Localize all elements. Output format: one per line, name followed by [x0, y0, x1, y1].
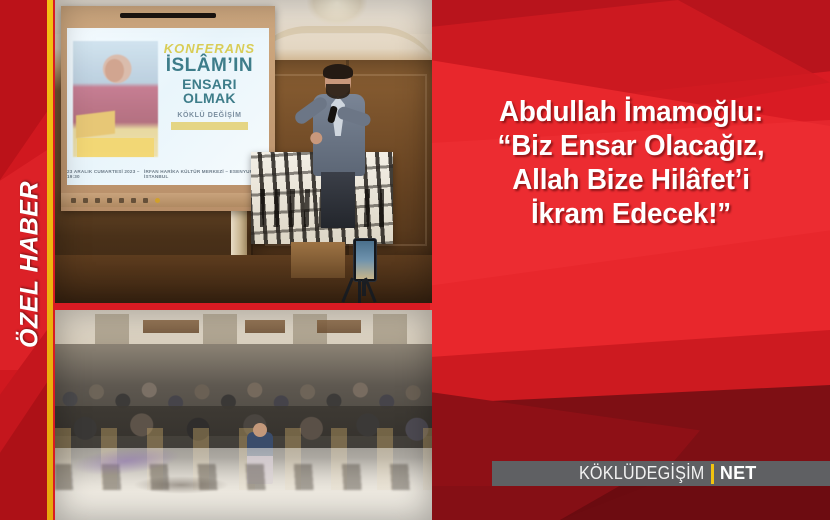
grid-icon [95, 198, 100, 203]
list-icon [143, 198, 148, 203]
screen-control-strip [61, 193, 275, 207]
slide-kicker: KONFERANS [156, 42, 263, 55]
floor-light-gobo-2 [133, 476, 229, 494]
wall-frieze [245, 320, 285, 333]
phone-screen [356, 241, 374, 279]
slide-photo-book [76, 110, 115, 138]
headline: Abdullah İmamoğlu: “Biz Ensar Olacağız, … [448, 96, 815, 232]
slide-text-block: KONFERANS İSLÂM’IN ENSARI OLMAK KÖKLÜ DE… [156, 42, 263, 129]
logo-name-light: KÖKLÜDEGİŞİM [579, 463, 704, 484]
power-icon [131, 198, 136, 203]
logo-separator [711, 464, 714, 484]
slide-footer-left: 23 ARALIK CUMARTESİ 2023 – 19:30 [67, 169, 144, 179]
slide-signature-strip [77, 138, 154, 157]
speaker-beard [326, 84, 350, 99]
speaker-figure [291, 66, 387, 226]
headline-line-3: Allah Bize Hilâfet’i [448, 164, 815, 198]
smartphone-recording [353, 238, 377, 282]
headline-line-2: “Biz Ensar Olacağız, [448, 130, 815, 164]
ozel-haber-ribbon: ÖZEL HABER [0, 0, 47, 520]
slide-accent-pill [171, 122, 248, 130]
chandelier-icon [307, 0, 367, 26]
home-icon [83, 198, 88, 203]
headline-line-4: İkram Edecek!” [448, 198, 815, 232]
warning-icon [155, 198, 160, 203]
display-icon [107, 198, 112, 203]
slide-photo-head [105, 59, 124, 82]
slide-title-line-2: ENSARI OLMAK [156, 77, 263, 105]
ozel-haber-label: ÖZEL HABER [16, 140, 45, 390]
slide-footer: 23 ARALIK CUMARTESİ 2023 – 19:30 İRFAN H… [67, 169, 269, 179]
headline-line-1: Abdullah İmamoğlu: [448, 96, 815, 130]
slide-organizer: KÖKLÜ DEĞİŞİM [156, 112, 263, 119]
photo-speaker-at-podium: KONFERANS İSLÂM’IN ENSARI OLMAK KÖKLÜ DE… [55, 0, 432, 303]
menu-icon [119, 198, 124, 203]
photo-audience [55, 310, 432, 520]
wall-frieze [143, 320, 199, 333]
speaker-hair [323, 64, 353, 79]
news-thumbnail-banner: KONFERANS İSLÂM’IN ENSARI OLMAK KÖKLÜ DE… [0, 0, 830, 520]
screen-top-bar [120, 13, 216, 18]
gold-divider-rule [47, 0, 53, 520]
control-dot-icon [71, 198, 76, 203]
tripod-leg [358, 280, 361, 303]
logo-name-bold: NET [720, 463, 757, 484]
projection-screen: KONFERANS İSLÂM’IN ENSARI OLMAK KÖKLÜ DE… [67, 28, 269, 185]
slide-title-line-1: İSLÂM’IN [156, 56, 263, 75]
tripod-leg [341, 277, 354, 302]
wall-frieze [317, 320, 361, 333]
speaker-legs [321, 172, 355, 228]
site-logo-band[interactable]: KÖKLÜDEGİŞİM NET [492, 461, 830, 486]
projection-screen-frame: KONFERANS İSLÂM’IN ENSARI OLMAK KÖKLÜ DE… [61, 6, 275, 211]
phone-tripod [331, 238, 395, 303]
site-logo[interactable]: KÖKLÜDEGİŞİM NET [565, 463, 756, 484]
